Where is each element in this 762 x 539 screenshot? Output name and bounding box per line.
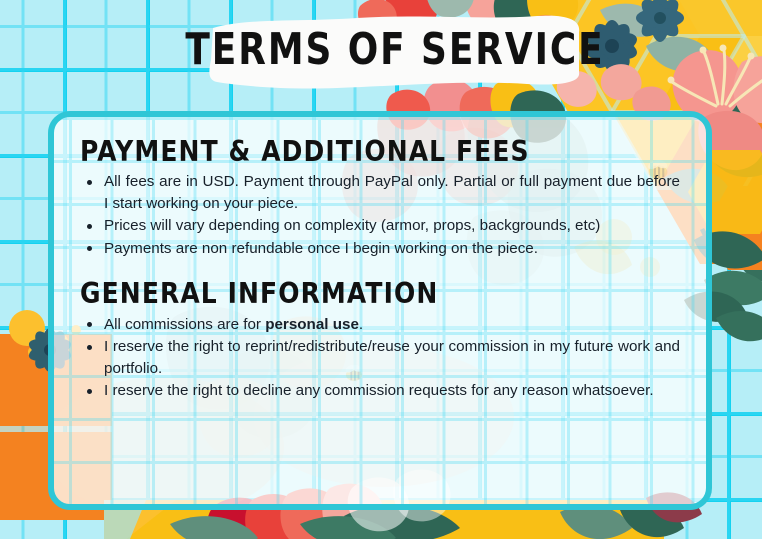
- section-heading-general: GENERAL INFORMATION: [80, 279, 680, 309]
- card-content: PAYMENT & ADDITIONAL FEES All fees are i…: [54, 117, 706, 504]
- section-heading-payment: PAYMENT & ADDITIONAL FEES: [80, 137, 680, 167]
- section-payment: PAYMENT & ADDITIONAL FEES All fees are i…: [80, 139, 680, 259]
- title-banner: TERMS OF SERVICE: [207, 10, 583, 91]
- list-item: I reserve the right to decline any commi…: [80, 380, 680, 402]
- list-item-text-after: .: [359, 316, 363, 333]
- list-item: Prices will vary depending on complexity…: [80, 215, 680, 237]
- payment-rules-list: All fees are in USD. Payment through Pay…: [80, 171, 680, 259]
- list-item: All commissions are for personal use.: [80, 314, 680, 336]
- poster-canvas: TERMS OF SERVICE: [0, 0, 762, 539]
- section-general: GENERAL INFORMATION All commissions are …: [80, 281, 680, 401]
- terms-card: PAYMENT & ADDITIONAL FEES All fees are i…: [48, 111, 712, 510]
- list-item: I reserve the right to reprint/redistrib…: [80, 336, 680, 379]
- general-rules-list: All commissions are for personal use. I …: [80, 314, 680, 402]
- list-item: Payments are non refundable once I begin…: [80, 238, 680, 260]
- page-title: TERMS OF SERVICE: [213, 3, 578, 99]
- list-item: All fees are in USD. Payment through Pay…: [80, 171, 680, 214]
- list-item-text-before: All commissions are for: [104, 316, 265, 333]
- list-item-emphasis: personal use: [265, 316, 359, 333]
